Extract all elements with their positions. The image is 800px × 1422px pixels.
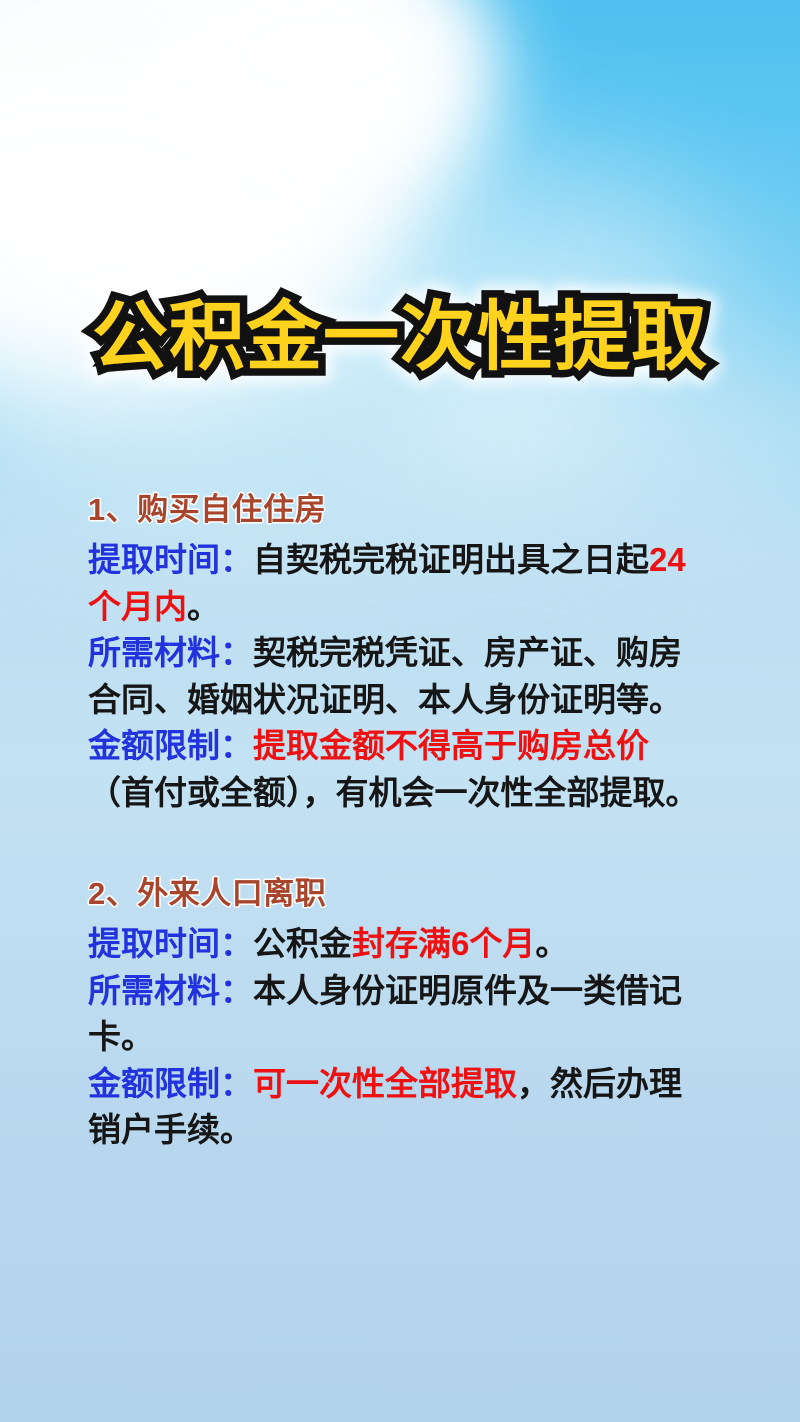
row-text-black: 公积金 [253,925,352,962]
poster-canvas: 公积金一次性提取 公积金一次性提取 公积金一次性提取 1、购买自住住房提取时间：… [0,0,800,1422]
row-text-red: 封存满6个月 [352,925,535,962]
poster-title: 公积金一次性提取 公积金一次性提取 公积金一次性提取 [0,288,800,388]
content-row: 所需材料：契税完税凭证、房产证、购房合同、婚姻状况证明、本人身份证明等。 [88,630,704,723]
content-row: 提取时间：公积金封存满6个月。 [88,921,704,968]
poster-title-text: 公积金一次性提取 [0,288,800,388]
cloud-shape [150,0,480,170]
row-label: 金额限制： [88,1065,253,1102]
row-label: 所需材料： [88,972,253,1009]
row-label: 提取时间： [88,541,253,578]
row-text-black: （首付或全额），有机会一次性全部提取。 [88,774,699,811]
content-section: 1、购买自住住房提取时间：自契税完税证明出具之日起24个月内。所需材料：契税完税… [88,487,704,816]
row-text-black: 。 [187,588,220,625]
content-row: 所需材料：本人身份证明原件及一类借记卡。 [88,968,704,1061]
section-heading: 1、购买自住住房 [88,487,704,533]
row-label: 金额限制： [88,727,253,764]
row-label: 提取时间： [88,925,253,962]
content-section: 2、外来人口离职提取时间：公积金封存满6个月。所需材料：本人身份证明原件及一类借… [88,871,704,1154]
cloud-shape [0,0,490,300]
content-row: 金额限制：可一次性全部提取，然后办理销户手续。 [88,1061,704,1154]
poster-body: 1、购买自住住房提取时间：自契税完税证明出具之日起24个月内。所需材料：契税完税… [88,487,704,1154]
content-row: 提取时间：自契税完税证明出具之日起24个月内。 [88,537,704,630]
content-row: 金额限制：提取金额不得高于购房总价（首付或全额），有机会一次性全部提取。 [88,723,704,816]
row-label: 所需材料： [88,634,253,671]
row-text-black: 自契税完税证明出具之日起 [253,541,649,578]
row-text-black: 。 [535,925,568,962]
row-text-red: 提取金额不得高于购房总价 [253,727,649,764]
row-text-red: 可一次性全部提取 [253,1065,517,1102]
section-heading: 2、外来人口离职 [88,871,704,917]
